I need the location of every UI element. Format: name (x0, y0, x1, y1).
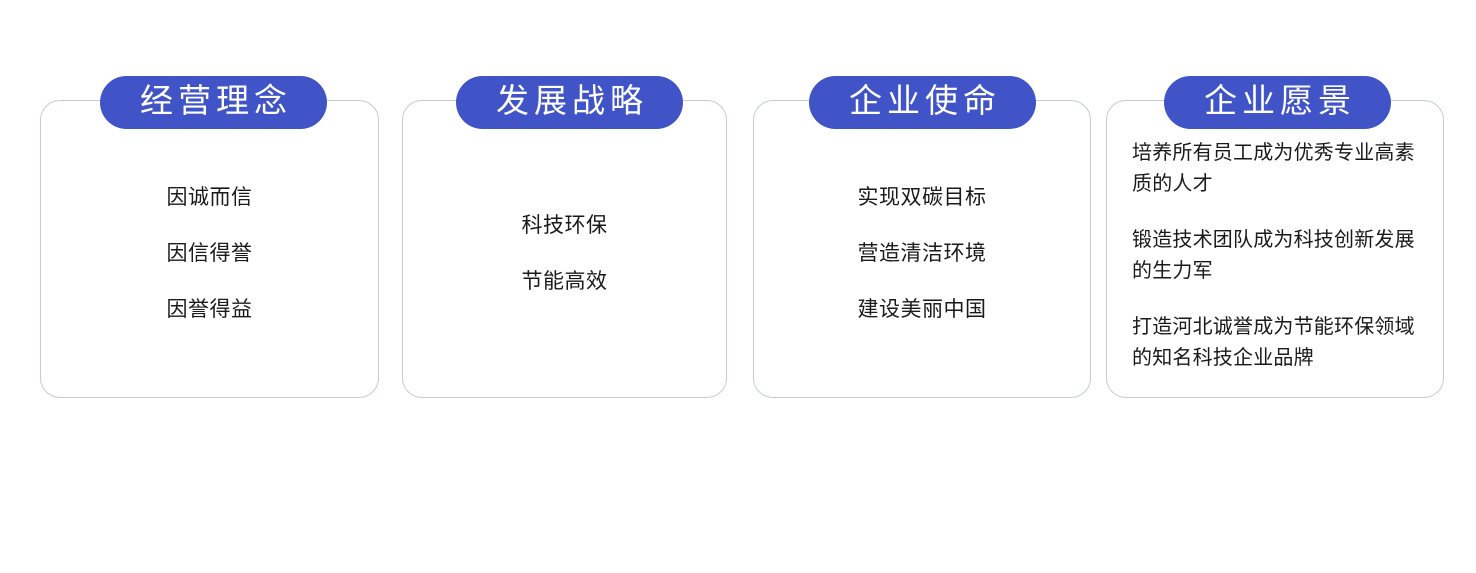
card-body-paragraph: 锻造技术团队成为科技创新发展的生力军 (1132, 225, 1423, 287)
card-corporate-mission: 企业使命 实现双碳目标 营造清洁环境 建设美丽中国 (753, 100, 1091, 398)
card-body: 科技环保 节能高效 (403, 101, 726, 397)
card-corporate-vision: 企业愿景 培养所有员工成为优秀专业高素质的人才 锻造技术团队成为科技创新发展的生… (1106, 100, 1444, 398)
card-body: 因诚而信 因信得誉 因誉得益 (41, 101, 378, 397)
card-body-line: 因信得誉 (167, 242, 253, 265)
card-body-paragraph: 打造河北诚誉成为节能环保领域的知名科技企业品牌 (1132, 312, 1423, 374)
card-body-line: 科技环保 (522, 214, 608, 237)
card-body: 实现双碳目标 营造清洁环境 建设美丽中国 (754, 101, 1090, 397)
card-body: 培养所有员工成为优秀专业高素质的人才 锻造技术团队成为科技创新发展的生力军 打造… (1132, 138, 1423, 374)
card-body-line: 营造清洁环境 (858, 242, 987, 265)
card-body-line: 实现双碳目标 (858, 186, 987, 209)
card-body-line: 因诚而信 (167, 186, 253, 209)
infographic-board: 经营理念 因诚而信 因信得誉 因誉得益 发展战略 科技环保 节能高效 企业使命 … (0, 0, 1476, 573)
card-title-text: 企业愿景 (1199, 86, 1356, 119)
card-body-line: 因誉得益 (167, 298, 253, 321)
card-development-strategy: 发展战略 科技环保 节能高效 (402, 100, 727, 398)
card-body-line: 节能高效 (522, 270, 608, 293)
card-title-badge: 企业愿景 (1164, 76, 1391, 129)
card-business-philosophy: 经营理念 因诚而信 因信得誉 因誉得益 (40, 100, 379, 398)
card-body-paragraph: 培养所有员工成为优秀专业高素质的人才 (1132, 138, 1423, 200)
card-body-line: 建设美丽中国 (858, 298, 987, 321)
